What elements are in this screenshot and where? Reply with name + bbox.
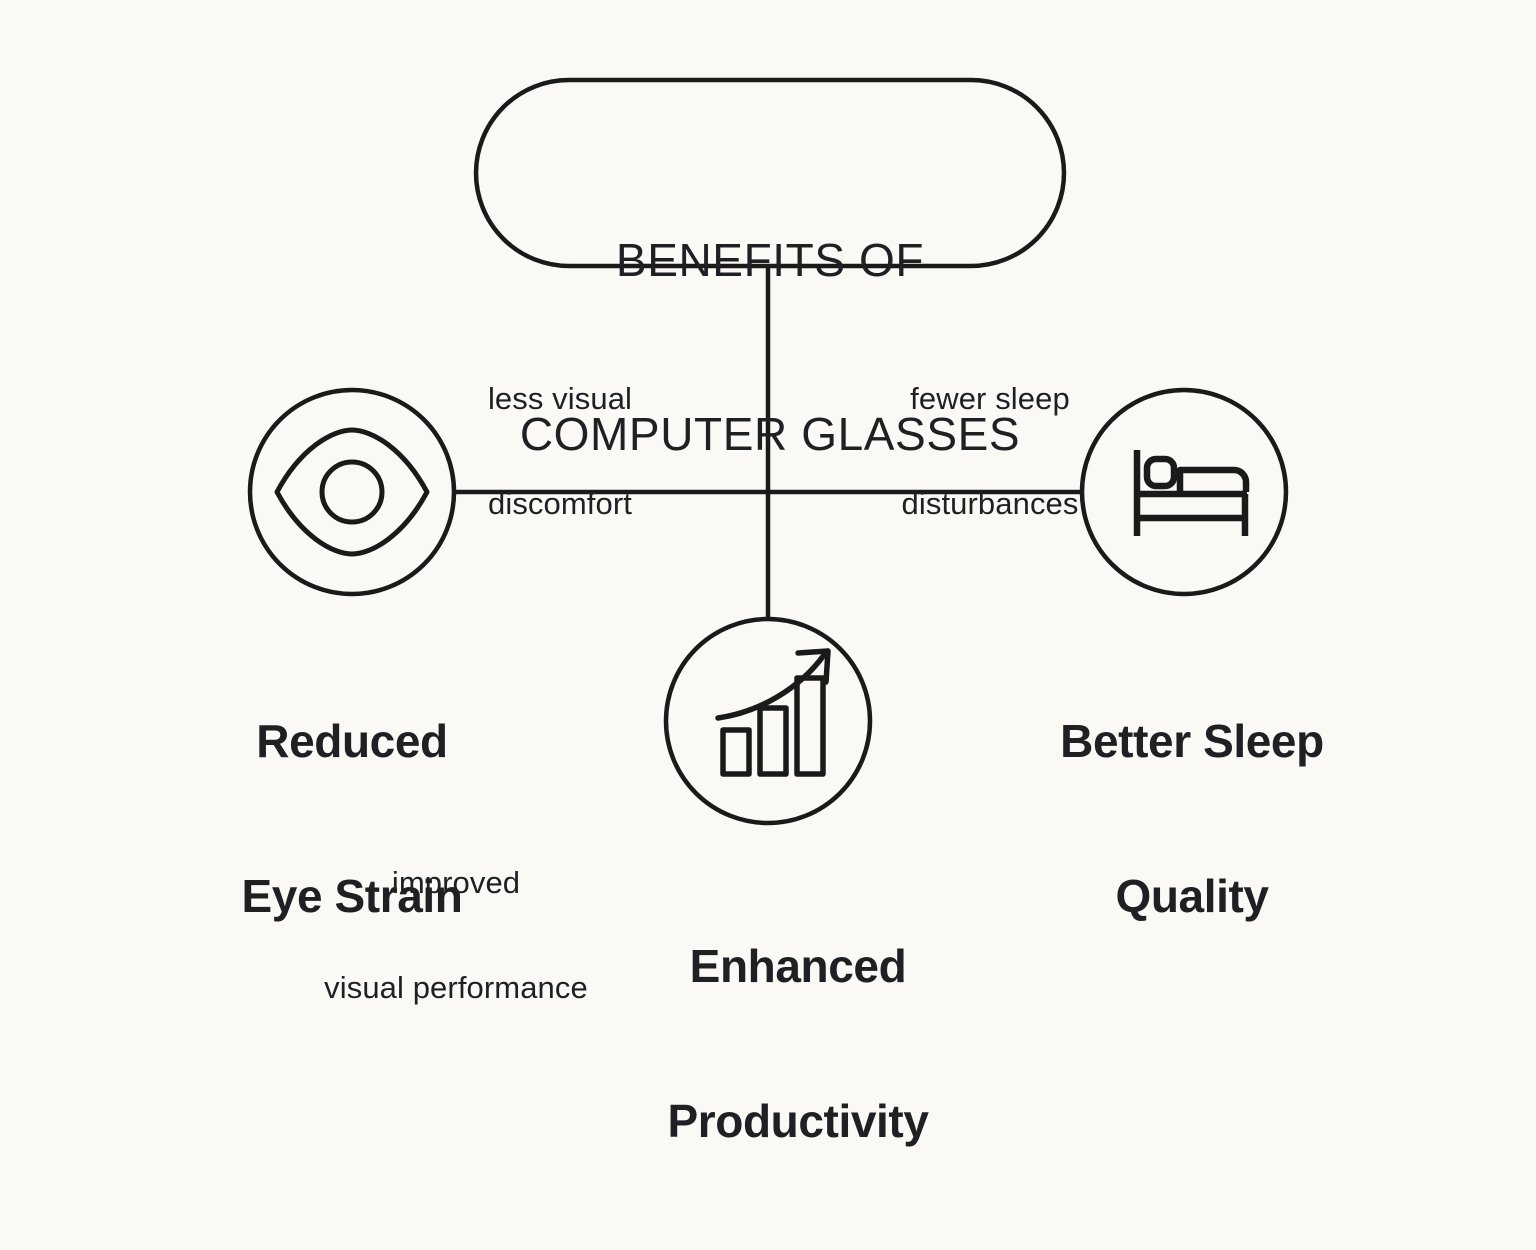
chart-node-circle — [666, 619, 870, 823]
node-title-left-line2: Eye Strain — [192, 871, 512, 923]
edge-caption-left-line1: less visual — [400, 382, 720, 417]
edge-caption-left: less visual discomfort — [400, 313, 720, 591]
node-title-bottom-line1: Enhanced — [608, 941, 988, 993]
node-title-enhanced-productivity: Enhanced Productivity — [608, 838, 988, 1250]
edge-caption-right-line2: disturbances — [830, 487, 1150, 522]
node-title-better-sleep-quality: Better Sleep Quality — [1022, 613, 1362, 1025]
edge-caption-right: fewer sleep disturbances — [830, 313, 1150, 591]
node-title-left-line1: Reduced — [192, 716, 512, 768]
node-circle-enhanced-productivity[interactable] — [666, 619, 870, 823]
edge-caption-left-line2: discomfort — [400, 487, 720, 522]
edge-caption-right-line1: fewer sleep — [830, 382, 1150, 417]
center-title-line1: BENEFITS OF — [476, 232, 1064, 290]
infographic-canvas: BENEFITS OF COMPUTER GLASSES less visual… — [0, 0, 1536, 1024]
node-title-right-line2: Quality — [1022, 871, 1362, 923]
node-title-bottom-line2: Productivity — [608, 1096, 988, 1148]
node-title-right-line1: Better Sleep — [1022, 716, 1362, 768]
node-title-reduced-eye-strain: Reduced Eye Strain — [192, 613, 512, 1025]
